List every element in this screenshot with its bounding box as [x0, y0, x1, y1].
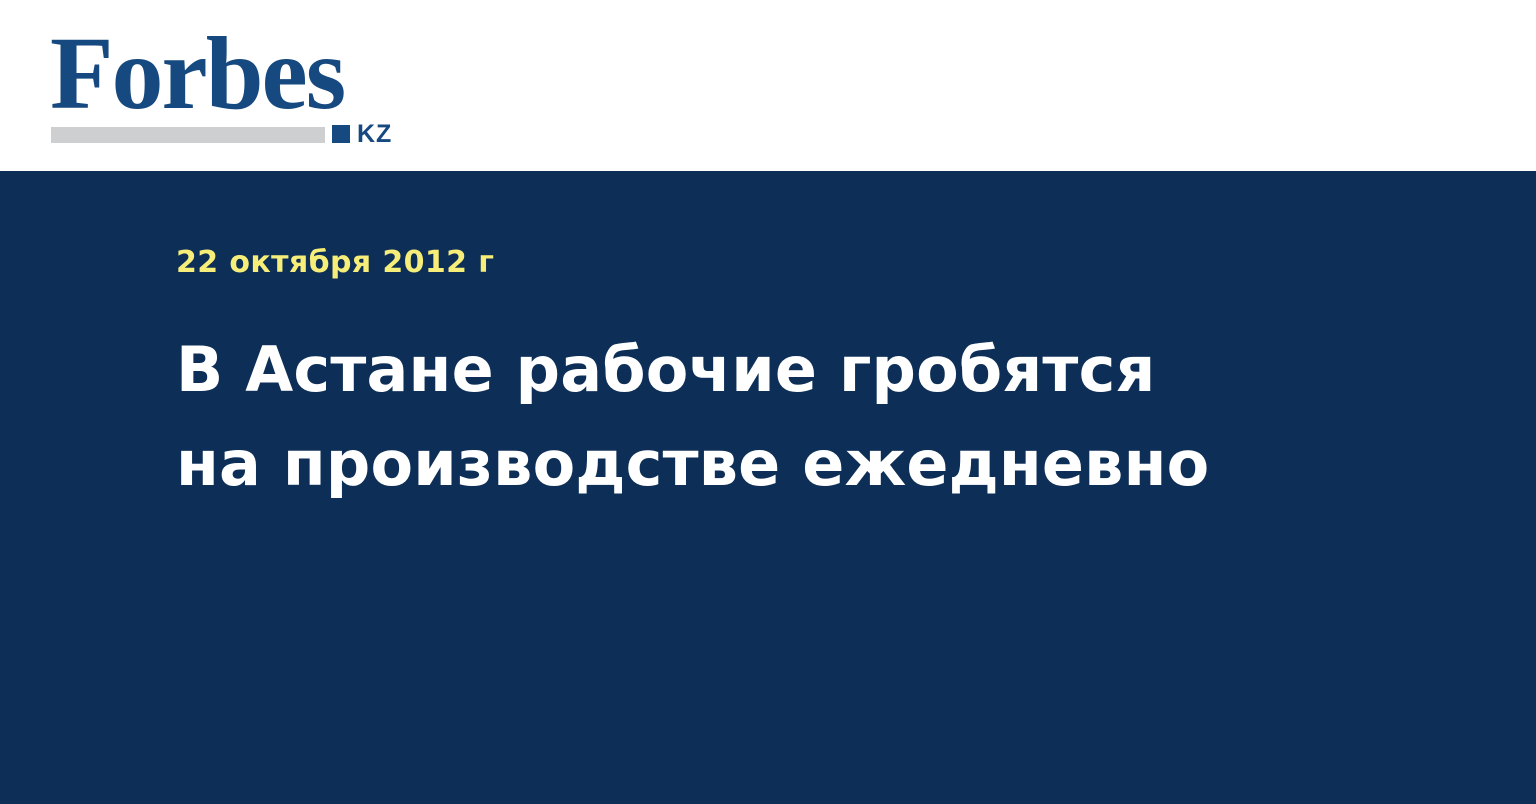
article-hero: 22 октября 2012 г В Астане рабочие гробя…: [0, 171, 1536, 804]
forbes-wordmark: Forbes: [50, 22, 344, 126]
logo-underbar-icon: [51, 127, 325, 143]
article-hero-content: 22 октября 2012 г В Астане рабочие гробя…: [176, 171, 1306, 511]
article-title: В Астане рабочие гробятся на производств…: [176, 281, 1236, 511]
logo-country-code: KZ: [357, 122, 392, 147]
article-date: 22 октября 2012 г: [176, 171, 1306, 281]
article-card-page: Forbes KZ 22 октября 2012 г В Астане раб…: [0, 0, 1536, 804]
site-header: Forbes KZ: [0, 0, 1536, 171]
forbes-kz-logo[interactable]: Forbes KZ: [50, 22, 410, 148]
logo-square-icon: [332, 125, 350, 143]
